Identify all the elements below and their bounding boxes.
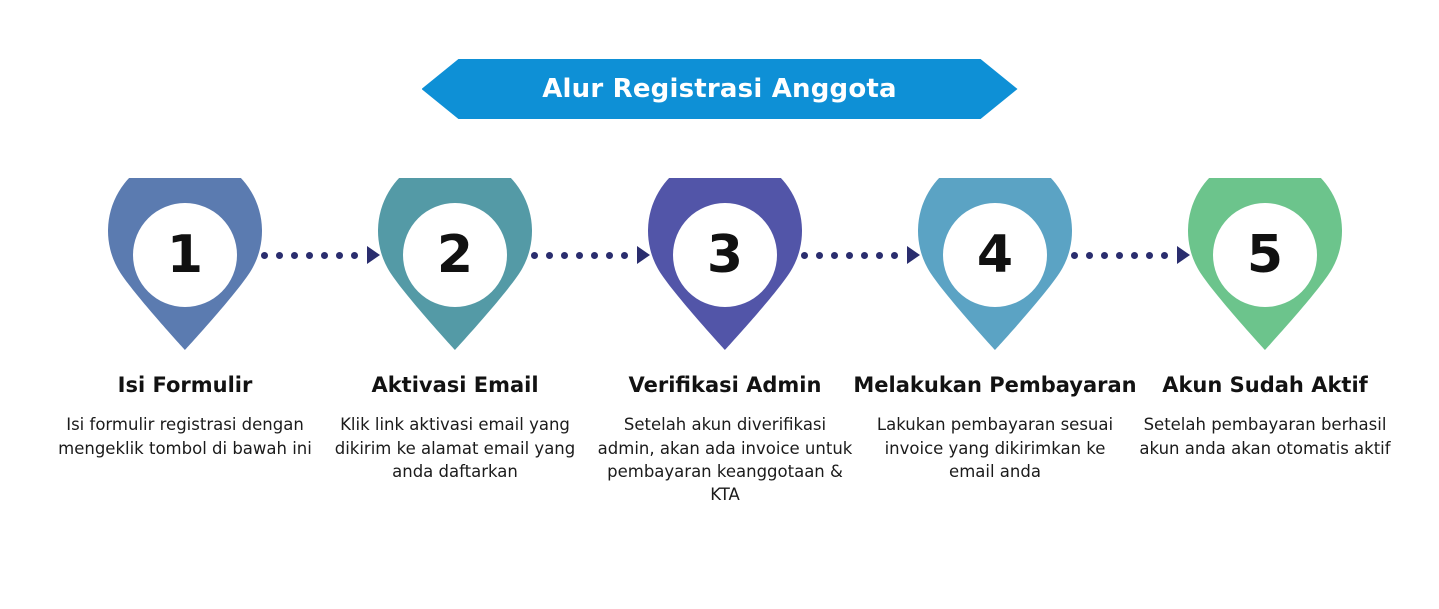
step-number: 5 <box>1188 178 1342 332</box>
step-3: 3Verifikasi AdminSetelah akun diverifika… <box>590 178 860 507</box>
map-pin-icon: 5 <box>1188 178 1342 350</box>
step-number: 4 <box>918 178 1072 332</box>
step-1: 1Isi FormulirIsi formulir registrasi den… <box>50 178 320 460</box>
map-pin-icon: 1 <box>108 178 262 350</box>
step-4: 4Melakukan PembayaranLakukan pembayaran … <box>860 178 1130 483</box>
step-description: Lakukan pembayaran sesuai invoice yang d… <box>864 413 1126 483</box>
connector-dot <box>546 252 553 259</box>
banner-container: Alur Registrasi Anggota <box>0 58 1439 120</box>
connector-dot <box>831 252 838 259</box>
step-title: Verifikasi Admin <box>629 374 822 397</box>
process-flow: 1Isi FormulirIsi formulir registrasi den… <box>0 178 1439 578</box>
connector-dot <box>816 252 823 259</box>
connector-dot <box>531 252 538 259</box>
step-title: Melakukan Pembayaran <box>853 374 1136 397</box>
step-description: Klik link aktivasi email yang dikirim ke… <box>324 413 586 483</box>
step-5: 5Akun Sudah AktifSetelah pembayaran berh… <box>1130 178 1400 460</box>
step-description: Setelah pembayaran berhasil akun anda ak… <box>1134 413 1396 460</box>
connector-dot <box>801 252 808 259</box>
step-number: 3 <box>648 178 802 332</box>
map-pin-icon: 4 <box>918 178 1072 350</box>
connector-dot <box>1101 252 1108 259</box>
step-number: 2 <box>378 178 532 332</box>
page-title: Alur Registrasi Anggota <box>542 76 897 102</box>
step-title: Isi Formulir <box>118 374 253 397</box>
step-title: Akun Sudah Aktif <box>1162 374 1368 397</box>
connector-dot <box>561 252 568 259</box>
connector-dot <box>276 252 283 259</box>
step-description: Setelah akun diverifikasi admin, akan ad… <box>594 413 856 507</box>
map-pin-icon: 3 <box>648 178 802 350</box>
step-description: Isi formulir registrasi dengan mengeklik… <box>54 413 316 460</box>
connector-dot <box>1086 252 1093 259</box>
step-title: Aktivasi Email <box>371 374 538 397</box>
step-2: 2Aktivasi EmailKlik link aktivasi email … <box>320 178 590 483</box>
connector-dot <box>1116 252 1123 259</box>
map-pin-icon: 2 <box>378 178 532 350</box>
connector-dot <box>846 252 853 259</box>
connector-dot <box>306 252 313 259</box>
connector-dot <box>1071 252 1078 259</box>
connector-dot <box>261 252 268 259</box>
connector-dot <box>291 252 298 259</box>
title-banner: Alur Registrasi Anggota <box>422 59 1018 119</box>
step-number: 1 <box>108 178 262 332</box>
connector-dot <box>576 252 583 259</box>
